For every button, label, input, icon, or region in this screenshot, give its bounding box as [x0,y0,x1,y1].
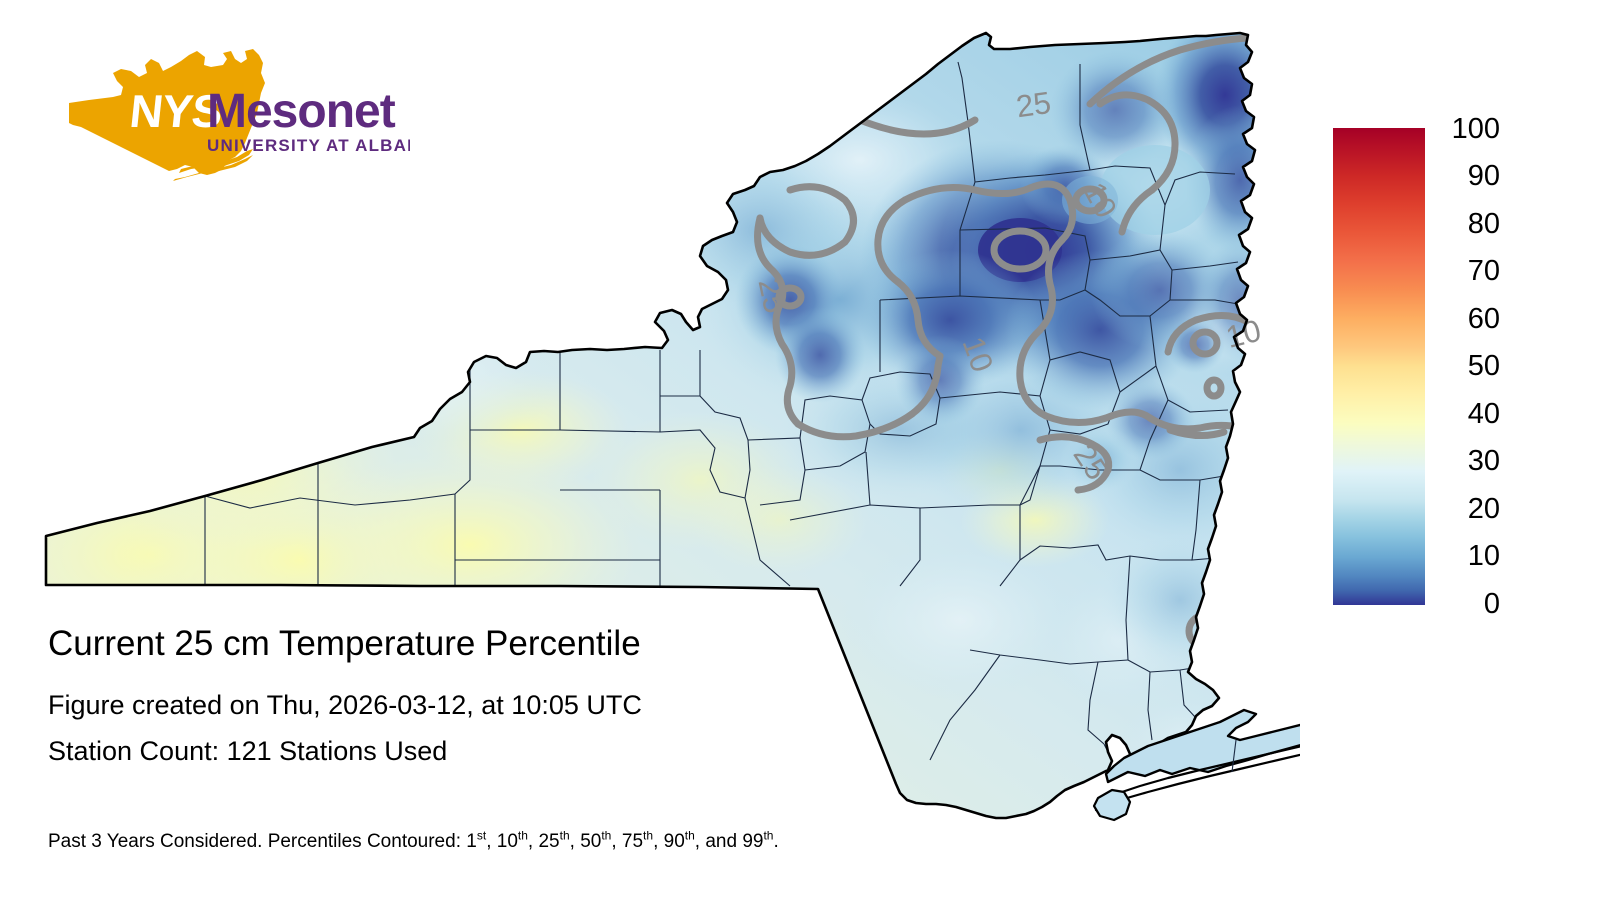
figure-footnote: Past 3 Years Considered. Percentiles Con… [48,830,779,854]
footnote-p6-ord: th [685,829,695,843]
footnote-p2: 10 [497,831,518,852]
figure-caption: Current 25 cm Temperature Percentile Fig… [48,620,1048,774]
colorbar-tick-40: 40 [1440,400,1500,429]
footnote-and: and [705,831,742,852]
figure-title: Current 25 cm Temperature Percentile [48,620,1048,668]
footnote-prefix: Past 3 Years Considered. Percentiles Con… [48,831,466,852]
colorbar-tick-50: 50 [1440,352,1500,381]
colorbar-tick-20: 20 [1440,495,1500,524]
footnote-p5-ord: th [643,829,653,843]
footnote-p4-ord: th [601,829,611,843]
footnote-end: . [773,831,778,852]
colorbar-gradient [1333,128,1425,605]
footnote-p7: 99 [742,831,763,852]
colorbar-tick-90: 90 [1440,162,1500,191]
contour-label-10-east: 10 [1222,313,1264,355]
colorbar-tick-80: 80 [1440,210,1500,239]
contour-label-25-west: 25 [752,275,793,316]
logo-text-mesonet: Mesonet [207,85,396,138]
colorbar-tick-70: 70 [1440,257,1500,286]
staten-island-landmass [1094,790,1130,820]
colorbar-tick-60: 60 [1440,305,1500,334]
footnote-p6: 90 [664,831,685,852]
percentile-colorbar [1333,128,1425,605]
footnote-p5: 75 [622,831,643,852]
footnote-p3: 25 [538,831,559,852]
footnote-p3-ord: th [560,829,570,843]
footnote-p1: 1 [466,831,477,852]
contour-label-25-north: 25 [1014,85,1053,124]
colorbar-tick-0: 0 [1440,590,1500,619]
footnote-p1-ord: st [477,829,486,843]
colorbar-tick-10: 10 [1440,542,1500,571]
station-count-text: Station Count: 121 Stations Used [48,728,1048,774]
colorbar-tick-30: 30 [1440,447,1500,476]
colorbar-tick-labels: 100 90 80 70 60 50 40 30 20 10 0 [1440,0,1500,900]
logo-text-university: UNIVERSITY AT ALBANY [207,136,410,155]
figure-created-timestamp: Figure created on Thu, 2026-03-12, at 10… [48,682,1048,728]
footnote-p2-ord: th [518,829,528,843]
footnote-p7-ord: th [763,829,773,843]
footnote-p4: 50 [580,831,601,852]
colorbar-tick-100: 100 [1440,115,1500,144]
nys-mesonet-logo: NYS Mesonet UNIVERSITY AT ALBANY [55,45,410,190]
